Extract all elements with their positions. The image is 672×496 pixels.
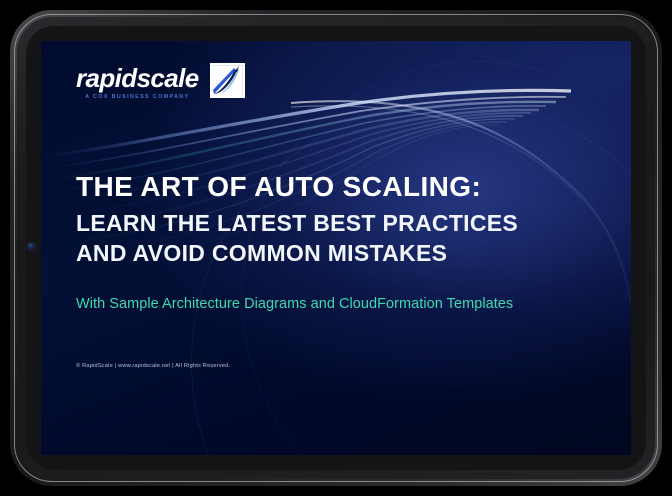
- copyright-notice: © RapidScale | www.rapidscale.net | All …: [76, 363, 230, 369]
- camera-lens-icon: [28, 243, 35, 250]
- tablet-screen[interactable]: rapidscale A COX BUSINESS COMPANY: [41, 41, 631, 455]
- subtitle-line-1: LEARN THE LATEST BEST PRACTICES: [76, 209, 616, 238]
- slide-tagline: With Sample Architecture Diagrams and Cl…: [76, 296, 513, 312]
- page-title: THE ART OF AUTO SCALING:: [76, 171, 616, 202]
- presentation-slide: rapidscale A COX BUSINESS COMPANY: [41, 41, 631, 455]
- logo-text-lockup: rapidscale A COX BUSINESS COMPANY: [76, 65, 199, 100]
- subtitle-line-2: AND AVOID COMMON MISTAKES: [76, 239, 616, 268]
- logo-tagline: A COX BUSINESS COMPANY: [85, 95, 189, 100]
- rapidscale-logo[interactable]: rapidscale A COX BUSINESS COMPANY: [76, 65, 245, 100]
- logo-wordmark: rapidscale: [76, 65, 199, 91]
- slide-content: rapidscale A COX BUSINESS COMPANY: [41, 41, 631, 455]
- rapidscale-swoosh-mark-icon: [210, 63, 245, 98]
- slide-headline: THE ART OF AUTO SCALING: LEARN THE LATES…: [76, 171, 616, 268]
